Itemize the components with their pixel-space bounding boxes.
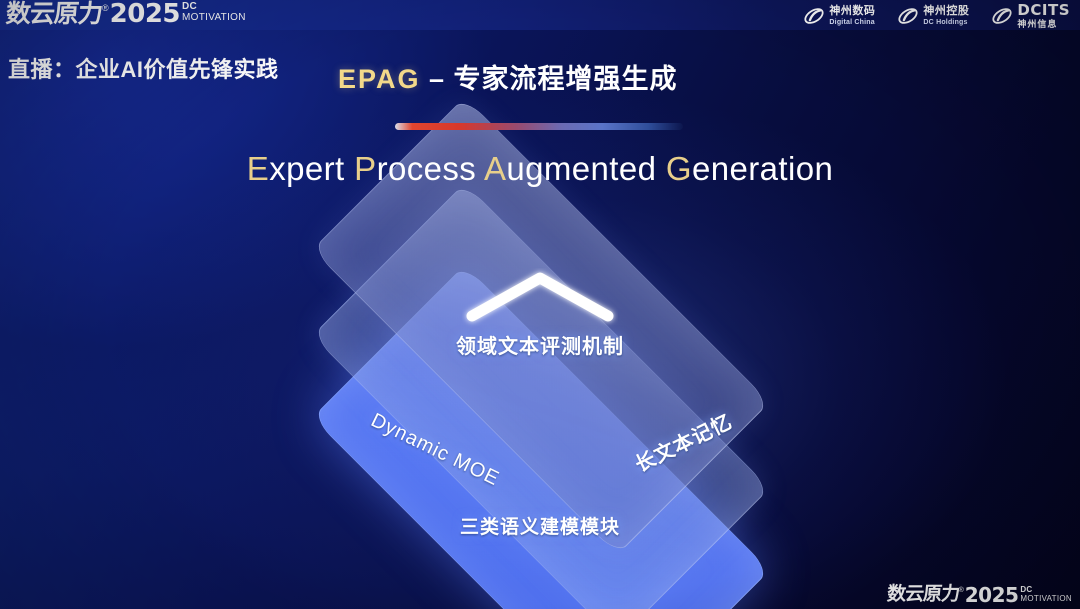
partner-logo-digital-china: 神州数码 Digital China xyxy=(803,5,875,27)
partner-logo-dcits: DCITS 神州信息 xyxy=(991,3,1070,29)
brand-motivation-text: MOTIVATION xyxy=(182,12,246,23)
watermark-motivation-text: MOTIVATION xyxy=(1020,594,1072,603)
brand-logo: 数云原力 ® 2025 DC MOTIVATION xyxy=(6,1,246,27)
presentation-slide: 数云原力 ® 2025 DC MOTIVATION 神州数码 Digital C… xyxy=(0,0,1080,609)
partner-name-cn: DCITS xyxy=(1017,3,1070,18)
live-stream-label: 直播：企业AI价值先锋实践 xyxy=(8,52,279,84)
subtitle-word-process: Process xyxy=(354,150,476,187)
partner-text: DCITS 神州信息 xyxy=(1017,3,1070,29)
stack-layer-top-label: 领域文本评测机制 xyxy=(0,330,1080,359)
partner-text: 神州控股 DC Holdings xyxy=(923,6,969,26)
brand-dc-motivation: DC MOTIVATION xyxy=(182,2,246,23)
subtitle-english: Expert Process Augmented Generation xyxy=(0,150,1080,188)
partner-logo-group: 神州数码 Digital China 神州控股 DC Holdings xyxy=(803,3,1070,29)
title-chinese: 专家流程增强生成 xyxy=(454,64,678,94)
swirl-icon xyxy=(991,5,1013,27)
watermark-brand-cn: 数云原力 xyxy=(886,585,960,605)
subtitle-word-augmented: Augmented xyxy=(484,150,656,187)
swirl-icon xyxy=(803,5,825,27)
brand-name-cn: 数云原力 xyxy=(5,1,103,27)
watermark-year: 2025 xyxy=(965,585,1019,605)
gradient-divider xyxy=(395,123,683,130)
chevron-up-icon xyxy=(462,268,618,328)
partner-text: 神州数码 Digital China xyxy=(829,6,875,26)
partner-name-en: 神州信息 xyxy=(1017,20,1070,29)
partner-name-cn: 神州控股 xyxy=(923,6,969,17)
subtitle-word-generation: Generation xyxy=(666,150,833,187)
subtitle-word-expert: Expert xyxy=(247,150,345,187)
partner-name-en: DC Holdings xyxy=(923,19,969,26)
title-acronym: EPAG xyxy=(338,64,421,94)
watermark-dc-motivation: DC MOTIVATION xyxy=(1020,586,1072,603)
stack-layer-bottom-label: 三类语义建模模块 xyxy=(0,512,1080,539)
partner-name-en: Digital China xyxy=(829,19,875,26)
swirl-icon xyxy=(897,5,919,27)
partner-name-cn: 神州数码 xyxy=(829,6,875,17)
page-title: EPAG – 专家流程增强生成 xyxy=(338,57,678,96)
footer-watermark-logo: 数云原力 ® 2025 DC MOTIVATION xyxy=(887,585,1072,605)
brand-year: 2025 xyxy=(110,1,180,27)
watermark-dc-text: DC xyxy=(1020,586,1072,594)
brand-registered-mark: ® xyxy=(102,2,109,14)
brand-dc-text: DC xyxy=(182,2,246,12)
title-separator: – xyxy=(421,64,454,94)
partner-logo-dc-holdings: 神州控股 DC Holdings xyxy=(897,5,969,27)
